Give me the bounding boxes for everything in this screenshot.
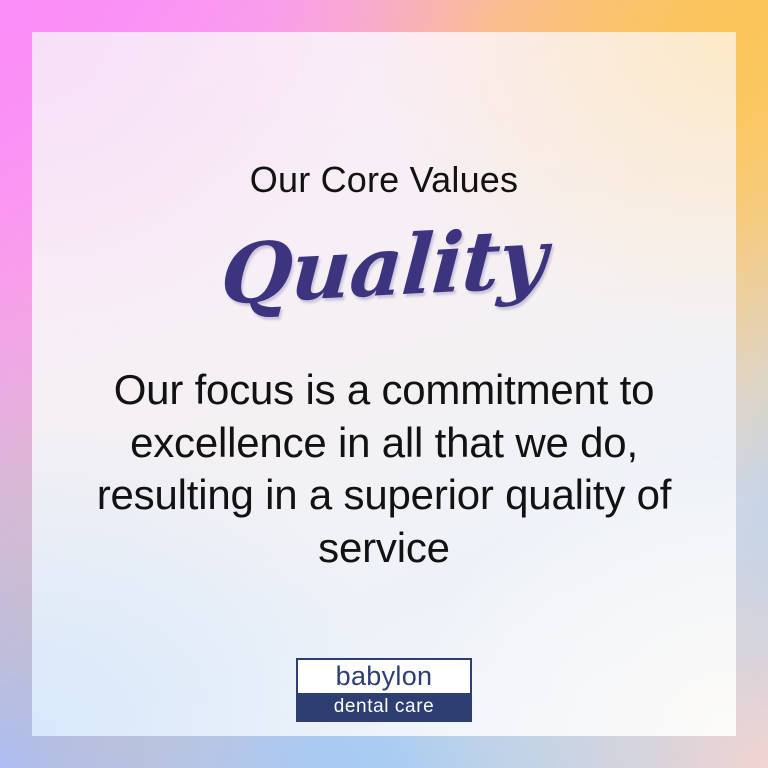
poster-canvas: Our Core Values Quality Our focus is a c… — [0, 0, 768, 768]
body-copy: Our focus is a commitment to excellence … — [74, 364, 694, 576]
logo-brand-row: babylon — [298, 660, 470, 693]
logo-tagline: dental care — [334, 697, 435, 716]
content-card: Our Core Values Quality Our focus is a c… — [32, 32, 736, 736]
babylon-dental-care-logo: babylon dental care — [296, 658, 472, 722]
logo-brand-name: babylon — [336, 663, 433, 690]
value-word-script: Quality — [219, 217, 549, 316]
eyebrow-heading: Our Core Values — [250, 160, 518, 200]
logo-tagline-row: dental care — [298, 693, 470, 720]
